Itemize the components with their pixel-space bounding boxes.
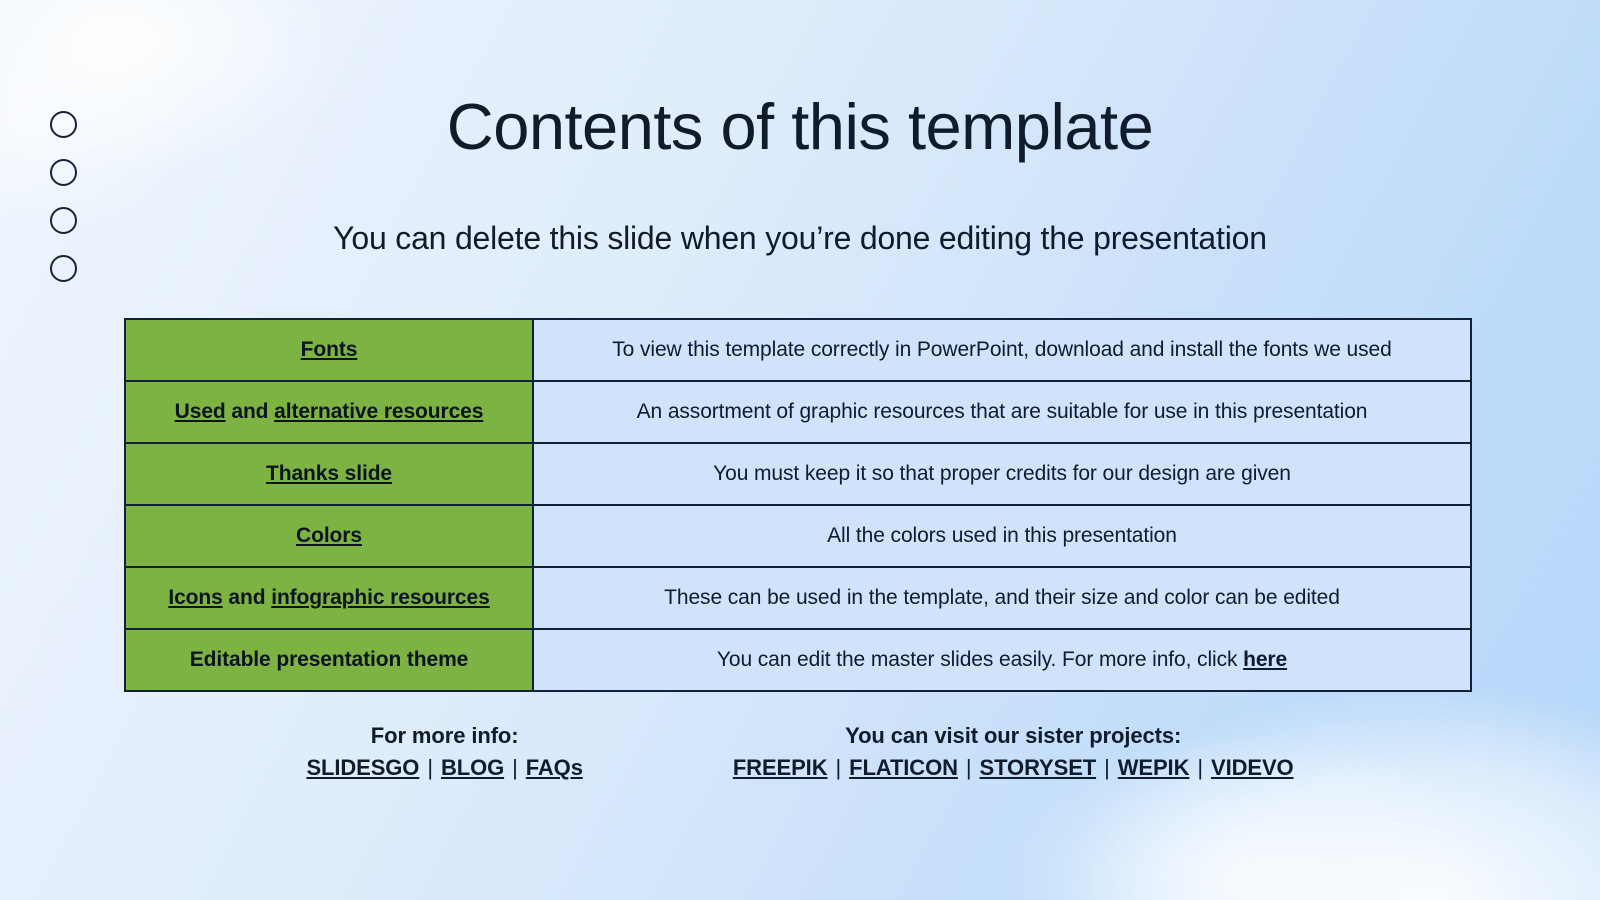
table-row: Used and alternative resourcesAn assortm… [125, 381, 1471, 443]
table-cell-key[interactable]: Icons and infographic resources [125, 567, 533, 629]
footer-column-0: For more info:SLIDESGO | BLOG | FAQs [306, 723, 582, 781]
row-0-value-text-0: To view this template correctly in Power… [612, 338, 1391, 361]
footer-link-wepik[interactable]: WEPIK [1118, 755, 1190, 780]
row-0-key-link-0[interactable]: Fonts [301, 338, 358, 361]
footer-link-list: FREEPIK | FLATICON | STORYSET | WEPIK | … [733, 755, 1294, 781]
footer-link-separator: | [419, 755, 441, 780]
decorative-circle [50, 159, 77, 186]
row-1-key-link-0[interactable]: Used [175, 400, 226, 423]
table-cell-key[interactable]: Used and alternative resources [125, 381, 533, 443]
table-cell-value: You can edit the master slides easily. F… [533, 629, 1471, 691]
table-row: Thanks slideYou must keep it so that pro… [125, 443, 1471, 505]
table-cell-key[interactable]: Editable presentation theme [125, 629, 533, 691]
row-2-value-text-0: You must keep it so that proper credits … [713, 462, 1291, 485]
table-cell-value: An assortment of graphic resources that … [533, 381, 1471, 443]
footer-link-separator: | [958, 755, 980, 780]
table-row: Editable presentation themeYou can edit … [125, 629, 1471, 691]
contents-table-body: FontsTo view this template correctly in … [125, 319, 1471, 691]
footer-heading: You can visit our sister projects: [733, 723, 1294, 749]
table-cell-value: You must keep it so that proper credits … [533, 443, 1471, 505]
row-1-key-link-2[interactable]: alternative resources [274, 400, 483, 423]
footer: For more info:SLIDESGO | BLOG | FAQsYou … [124, 723, 1476, 781]
table-cell-key[interactable]: Thanks slide [125, 443, 533, 505]
table-cell-key[interactable]: Colors [125, 505, 533, 567]
footer-link-separator: | [827, 755, 849, 780]
row-4-key-link-0[interactable]: Icons [168, 586, 222, 609]
row-1-key-text-1: and [226, 400, 275, 423]
footer-column-1: You can visit our sister projects:FREEPI… [733, 723, 1294, 781]
footer-link-separator: | [1189, 755, 1211, 780]
footer-link-freepik[interactable]: FREEPIK [733, 755, 828, 780]
page-title: Contents of this template [0, 92, 1600, 162]
row-3-value-text-0: All the colors used in this presentation [827, 524, 1177, 547]
row-3-key-link-0[interactable]: Colors [296, 524, 362, 547]
table-cell-value: These can be used in the template, and t… [533, 567, 1471, 629]
footer-link-separator: | [1096, 755, 1118, 780]
footer-link-list: SLIDESGO | BLOG | FAQs [306, 755, 582, 781]
slide-canvas: Contents of this template You can delete… [0, 0, 1600, 900]
table-cell-value: All the colors used in this presentation [533, 505, 1471, 567]
footer-link-faqs[interactable]: FAQs [526, 755, 583, 780]
row-5-value-link-1[interactable]: here [1243, 648, 1287, 671]
table-row: FontsTo view this template correctly in … [125, 319, 1471, 381]
row-4-key-link-2[interactable]: infographic resources [271, 586, 489, 609]
contents-table: FontsTo view this template correctly in … [124, 318, 1472, 692]
table-row: Icons and infographic resourcesThese can… [125, 567, 1471, 629]
row-4-value-text-0: These can be used in the template, and t… [664, 586, 1340, 609]
footer-link-separator: | [504, 755, 526, 780]
row-1-value-text-0: An assortment of graphic resources that … [637, 400, 1368, 423]
table-cell-key[interactable]: Fonts [125, 319, 533, 381]
footer-link-videvo[interactable]: VIDEVO [1211, 755, 1294, 780]
footer-link-blog[interactable]: BLOG [441, 755, 504, 780]
row-5-key-text-0: Editable presentation theme [190, 648, 469, 671]
footer-link-slidesgo[interactable]: SLIDESGO [306, 755, 419, 780]
row-4-key-text-1: and [223, 586, 272, 609]
table-row: ColorsAll the colors used in this presen… [125, 505, 1471, 567]
page-subtitle: You can delete this slide when you’re do… [0, 220, 1600, 257]
row-2-key-link-0[interactable]: Thanks slide [266, 462, 392, 485]
footer-heading: For more info: [306, 723, 582, 749]
footer-link-storyset[interactable]: STORYSET [980, 755, 1097, 780]
decorative-circle [50, 255, 77, 282]
row-5-value-text-0: You can edit the master slides easily. F… [717, 648, 1243, 671]
footer-link-flaticon[interactable]: FLATICON [849, 755, 958, 780]
table-cell-value: To view this template correctly in Power… [533, 319, 1471, 381]
